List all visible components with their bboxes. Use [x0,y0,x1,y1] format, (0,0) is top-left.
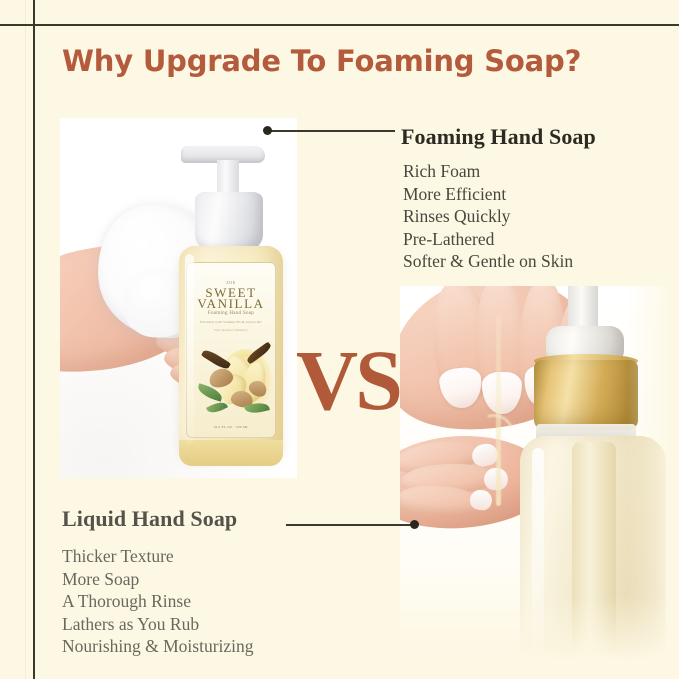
frame-vertical-line [33,0,35,679]
list-item: More Efficient [403,183,573,206]
bottle-highlight [185,254,194,444]
liquid-soap-benefit-list: Thicker Texture More Soap A Thorough Rin… [62,545,254,658]
label-fine-print-secondary: Pure Nature's Embrace [187,328,275,332]
label-product-name: SWEET VANILLA [187,287,275,309]
bottle-label: ZOE SWEET VANILLA Foaming Hand Soap Enri… [186,262,276,438]
list-item: Lathers as You Rub [62,613,254,636]
vs-label: VS [296,337,400,423]
foaming-soap-photo: ZOE SWEET VANILLA Foaming Hand Soap Enri… [60,118,297,478]
callout-dot-foaming [263,126,272,135]
list-item: Pre-Lathered [403,228,573,251]
label-size: 16.9 FL OZ / 500 ML [187,425,275,429]
label-fine-print: Enriched with Vitamin B5 & Jojoba Oil [187,320,275,324]
photo-fade-bottom [400,596,679,666]
liquid-soap-heading: Liquid Hand Soap [62,506,237,532]
list-item: Nourishing & Moisturizing [62,635,254,658]
list-item: More Soap [62,568,254,591]
foaming-soap-bottle: ZOE SWEET VANILLA Foaming Hand Soap Enri… [173,136,289,466]
callout-dot-liquid [410,520,419,529]
callout-line-foaming [267,130,395,132]
list-item: A Thorough Rinse [62,590,254,613]
label-subtitle: Foaming Hand Soap [187,311,275,316]
page-title: Why Upgrade To Foaming Soap? [62,44,581,78]
gold-pump-collar [534,360,638,430]
liquid-soap-photo [400,286,679,666]
frame-vertical-accent-line [25,0,26,679]
list-item: Rich Foam [403,160,573,183]
bottle-base [179,440,283,466]
frame-horizontal-line [0,24,679,26]
list-item: Thicker Texture [62,545,254,568]
foaming-soap-benefit-list: Rich Foam More Efficient Rinses Quickly … [403,160,573,273]
callout-line-liquid [286,524,414,526]
foaming-soap-heading: Foaming Hand Soap [401,124,596,150]
bottle-body: ZOE SWEET VANILLA Foaming Hand Soap Enri… [179,246,283,458]
list-item: Rinses Quickly [403,205,573,228]
liquid-soap-stream [496,316,501,506]
infographic-page: Why Upgrade To Foaming Soap? ZOE SWEET V… [0,0,679,679]
list-item: Softer & Gentle on Skin [403,250,573,273]
